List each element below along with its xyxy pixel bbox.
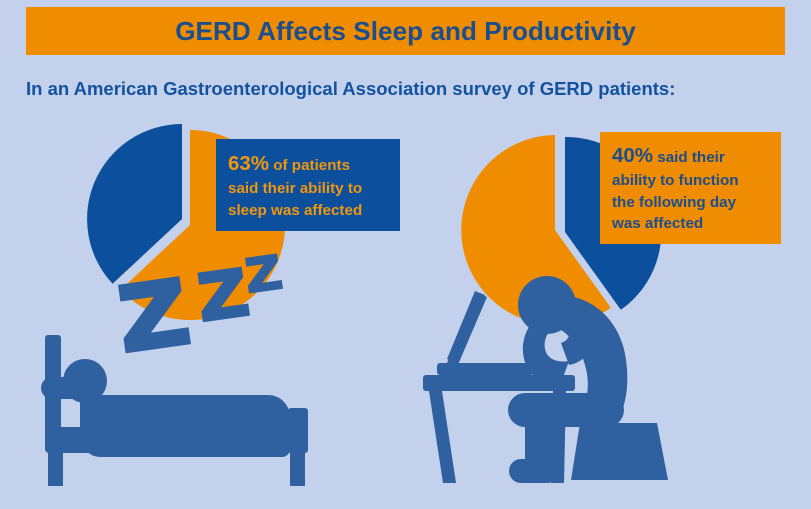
tired-person-at-desk-illustration [425,283,695,488]
sleep-callout-box: 63% of patients said their ability to sl… [216,139,400,231]
subtitle-text: In an American Gastroenterological Assoc… [26,76,786,102]
sleep-callout-text-1: of patients [269,157,350,174]
infographic-canvas: GERD Affects Sleep and Productivity In a… [0,0,811,509]
productivity-callout-line-4: was affected [612,213,781,235]
productivity-callout-line-3: the following day [612,192,781,214]
bed-leg-left [48,450,63,486]
sleep-z-medium-icon [196,266,250,322]
sleeping-person-in-bed-illustration [40,335,325,490]
bed-leg-right [290,450,305,486]
sleep-callout-line-2: said their ability to [228,178,400,200]
bed-footboard-icon [288,408,308,453]
sleeping-person-body-icon [80,395,290,427]
tired-person-foot-icon [509,459,557,483]
sleep-percent-value: 63% [228,152,269,175]
page-title: GERD Affects Sleep and Productivity [175,18,636,44]
laptop-base-icon [437,363,533,375]
productivity-callout-line-2: ability to function [612,170,781,192]
sleep-callout-line-3: sleep was affected [228,200,400,222]
desk-leg-left-icon [429,391,456,483]
productivity-percent-value: 40% [612,144,653,167]
productivity-callout-line-1: 40% said their [612,141,781,170]
title-banner: GERD Affects Sleep and Productivity [26,7,785,55]
sleep-callout-line-1: 63% of patients [228,149,400,178]
productivity-callout-text-1: said their [653,149,725,166]
bed-base-bar [45,427,293,453]
laptop-screen-panel-icon [447,293,487,367]
sleep-z-small-icon [244,253,283,293]
stool-icon [571,423,668,480]
productivity-callout-box: 40% said their ability to function the f… [600,132,781,244]
